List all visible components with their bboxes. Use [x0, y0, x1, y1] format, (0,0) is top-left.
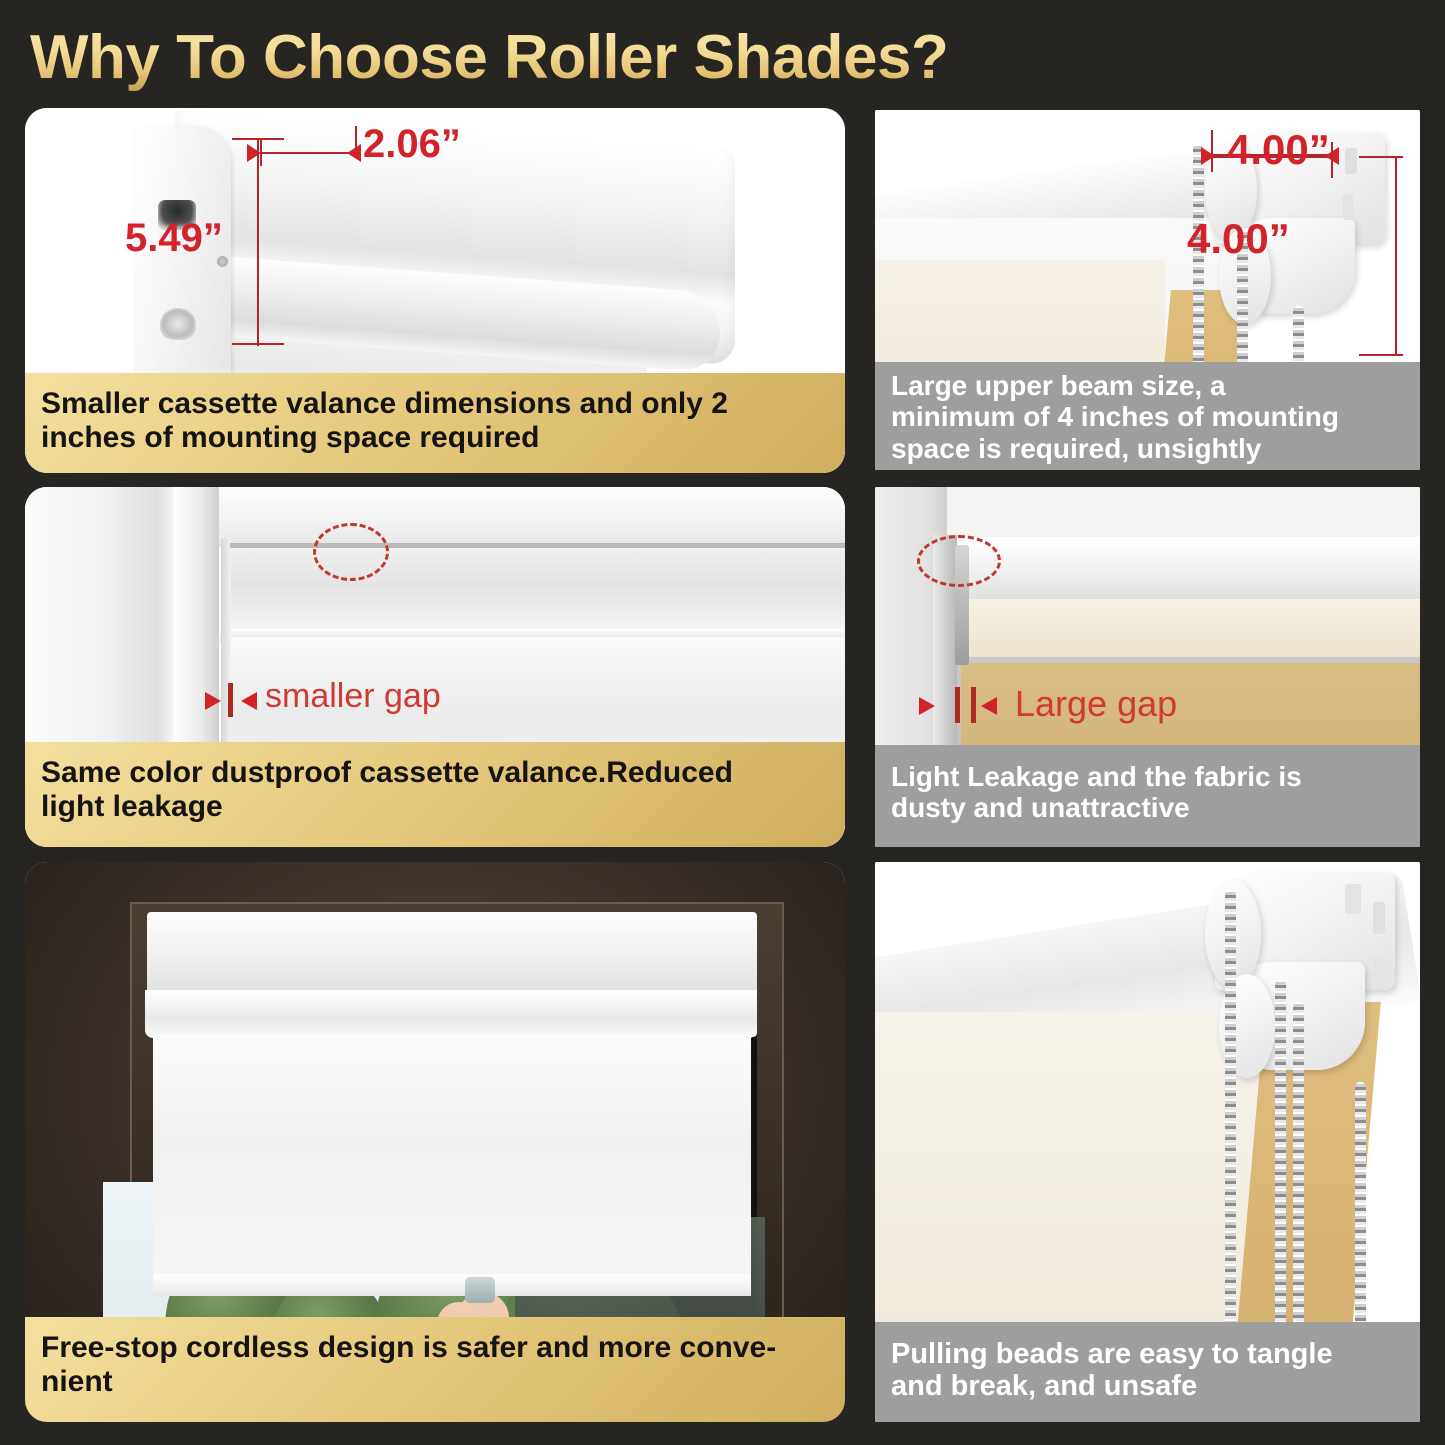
caption-line: Large upper beam size, a	[891, 370, 1404, 401]
gap-callout-label: Large gap	[1015, 683, 1177, 725]
panel-pulling-beads: Pulling beads are easy to tangle and bre…	[875, 862, 1420, 1422]
gap-arrow-right	[241, 692, 257, 710]
caption-line: light leakage	[41, 790, 829, 824]
caption-line: and break, and unsafe	[891, 1370, 1404, 1402]
highlight-ellipse	[313, 523, 389, 581]
panel-large-upper-beam: 4.00” 4.00” Large upper beam size, a min…	[875, 110, 1420, 470]
caption-line: nient	[41, 1365, 829, 1399]
beam-height-dimension-label: 4.00”	[1187, 215, 1290, 263]
caption-line: inches of mounting space required	[41, 421, 829, 455]
caption-line: Same color dustproof cassette valance.Re…	[41, 756, 829, 790]
caption-line: dusty and unattractive	[891, 792, 1404, 823]
caption-line: minimum of 4 inches of mounting	[891, 401, 1404, 432]
beam-width-dimension-label: 4.00”	[1227, 126, 1330, 174]
gap-callout-label: smaller gap	[265, 677, 441, 716]
panel-6-caption: Pulling beads are easy to tangle and bre…	[875, 1322, 1420, 1422]
panel-cordless-design: Free-stop cordless design is safer and m…	[25, 862, 845, 1422]
caption-line: Light Leakage and the fabric is	[891, 761, 1404, 792]
height-dimension-label: 5.49”	[125, 216, 223, 261]
gap-arrow-left	[205, 692, 221, 710]
bead-chain	[1225, 890, 1236, 1390]
caption-line: Smaller cassette valance dimensions and …	[41, 387, 829, 421]
width-dimension-label: 2.06”	[363, 122, 461, 167]
page-title: Why To Choose Roller Shades?	[30, 20, 1230, 95]
panel-light-leakage: Large gap Light Leakage and the fabric i…	[875, 487, 1420, 847]
highlight-ellipse	[917, 535, 1001, 587]
cassette-lock-icon	[160, 308, 196, 340]
panel-4-caption: Light Leakage and the fabric is dusty an…	[875, 745, 1420, 847]
panel-dustproof-cassette: smaller gap Same color dustproof cassett…	[25, 487, 845, 847]
gap-arrow-left	[919, 697, 935, 715]
gap-arrow-right	[981, 697, 997, 715]
panel-2-caption: Large upper beam size, a minimum of 4 in…	[875, 362, 1420, 470]
panel-1-caption: Smaller cassette valance dimensions and …	[25, 373, 845, 473]
caption-line: Pulling beads are easy to tangle	[891, 1338, 1404, 1370]
caption-line: Free-stop cordless design is safer and m…	[41, 1331, 829, 1365]
panel-5-caption: Free-stop cordless design is safer and m…	[25, 1317, 845, 1422]
panel-3-caption: Same color dustproof cassette valance.Re…	[25, 742, 845, 847]
caption-line: space is required, unsightly	[891, 433, 1404, 464]
panel-smaller-cassette: 2.06” 5.49” Smaller cassette valance dim…	[25, 108, 845, 473]
